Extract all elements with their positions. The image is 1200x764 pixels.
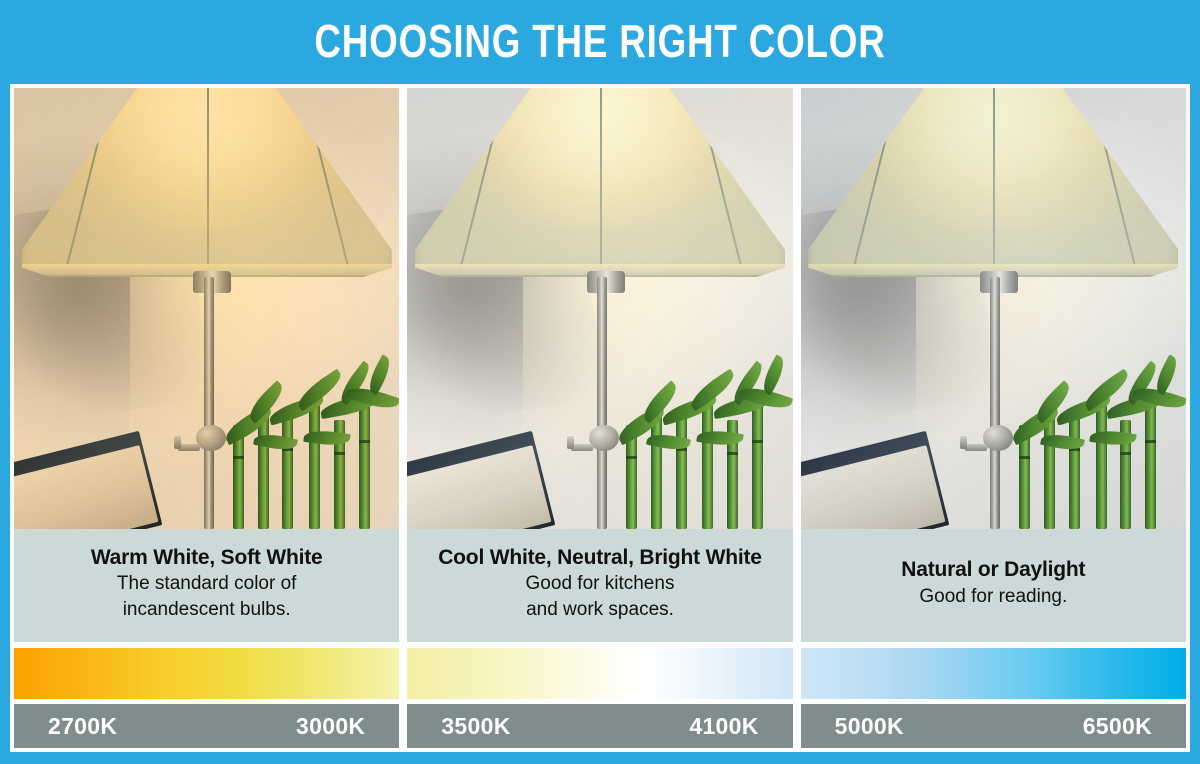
bamboo-cane xyxy=(702,394,713,529)
bamboo-plant xyxy=(222,330,399,528)
lamp-knob-cap xyxy=(174,436,181,449)
panel-cool-white: Cool White, Neutral, Bright White Good f… xyxy=(407,88,792,748)
bamboo-plant xyxy=(615,330,792,528)
panel-natural-daylight: Natural or Daylight Good for reading. 50… xyxy=(801,88,1186,748)
panel-warm-white: Warm White, Soft White The standard colo… xyxy=(14,88,399,748)
lamp-pole xyxy=(990,277,1000,528)
gradient-strip-cool-white xyxy=(407,648,792,700)
shade-seam xyxy=(207,88,209,277)
caption-line: Good for kitchens xyxy=(526,572,675,595)
caption-line: The standard color of xyxy=(117,572,297,595)
lamp-photo-cool-white xyxy=(407,88,792,529)
caption-line: incandescent bulbs. xyxy=(123,598,291,621)
bamboo-cane xyxy=(676,414,687,529)
bamboo-cane xyxy=(1069,414,1080,529)
infographic-root: CHOOSING THE RIGHT COLOR xyxy=(0,0,1200,764)
kelvin-high-value: 3000K xyxy=(296,713,365,740)
bamboo-cane xyxy=(282,414,293,529)
kelvin-bar-natural-daylight: 5000K 6500K xyxy=(801,704,1186,748)
lamp-pole xyxy=(204,277,214,528)
kelvin-high-value: 6500K xyxy=(1083,713,1152,740)
lamp-photo-warm-white xyxy=(14,88,399,529)
bamboo-cane xyxy=(752,402,763,529)
caption-title: Cool White, Neutral, Bright White xyxy=(438,546,762,571)
bamboo-cane xyxy=(359,402,370,529)
bamboo-cane xyxy=(1096,394,1107,529)
lamp-pole xyxy=(597,277,607,528)
kelvin-bar-warm-white: 2700K 3000K xyxy=(14,704,399,748)
shade-seam xyxy=(993,88,995,277)
bamboo-cane xyxy=(309,394,320,529)
title-bar: CHOOSING THE RIGHT COLOR xyxy=(0,0,1200,82)
kelvin-low-value: 2700K xyxy=(48,713,117,740)
caption-natural-daylight: Natural or Daylight Good for reading. xyxy=(801,529,1186,642)
kelvin-low-value: 3500K xyxy=(441,713,510,740)
lamp-scene xyxy=(14,88,399,529)
gradient-strip-warm-white xyxy=(14,648,399,700)
kelvin-low-value: 5000K xyxy=(835,713,904,740)
caption-cool-white: Cool White, Neutral, Bright White Good f… xyxy=(407,529,792,642)
lamp-scene xyxy=(407,88,792,529)
caption-line: and work spaces. xyxy=(526,598,674,621)
shade-seam xyxy=(600,88,602,277)
bamboo-cane xyxy=(1145,402,1156,529)
caption-title: Warm White, Soft White xyxy=(91,546,323,571)
lamp-knob-stem xyxy=(571,444,593,451)
kelvin-high-value: 4100K xyxy=(689,713,758,740)
lamp-knob-cap xyxy=(567,436,574,449)
bamboo-leaf xyxy=(365,354,396,395)
lamp-knob-stem xyxy=(178,444,200,451)
lamp-knob-stem xyxy=(965,444,987,451)
page-title: CHOOSING THE RIGHT COLOR xyxy=(314,14,885,68)
kelvin-bar-cool-white: 3500K 4100K xyxy=(407,704,792,748)
caption-warm-white: Warm White, Soft White The standard colo… xyxy=(14,529,399,642)
bamboo-plant xyxy=(1009,330,1186,528)
gradient-strip-natural-daylight xyxy=(801,648,1186,700)
caption-title: Natural or Daylight xyxy=(901,558,1085,583)
caption-line: Good for reading. xyxy=(919,585,1067,608)
lamp-scene xyxy=(801,88,1186,529)
lamp-photo-natural-daylight xyxy=(801,88,1186,529)
lamp-knob-cap xyxy=(960,436,967,449)
panels-board: Warm White, Soft White The standard colo… xyxy=(10,84,1190,752)
